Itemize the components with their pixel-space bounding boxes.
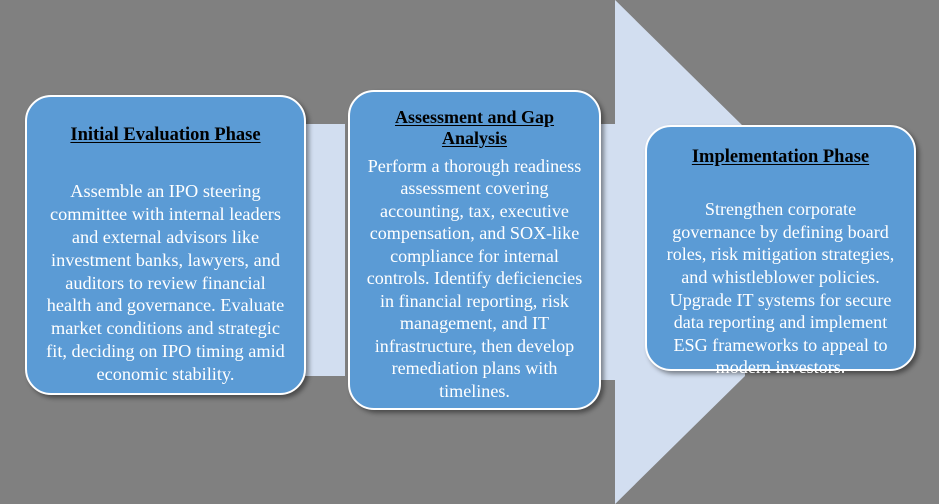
arrow-shaft-icon (601, 124, 641, 380)
phase-body: Assemble an IPO steering committee with … (41, 180, 290, 385)
phase-title: Implementation Phase (661, 147, 900, 168)
phase-card-initial-evaluation[interactable]: Initial Evaluation Phase Assemble an IPO… (25, 95, 306, 395)
diagram-canvas: Initial Evaluation Phase Assemble an IPO… (0, 0, 939, 504)
phase-body: Perform a thorough readiness assessment … (364, 155, 585, 403)
phase-card-implementation[interactable]: Implementation Phase Strengthen corporat… (645, 125, 916, 371)
phase-body: Strengthen corporate governance by defin… (661, 198, 900, 378)
phase-card-assessment-and-gap-analysis[interactable]: Assessment and Gap Analysis Perform a th… (348, 90, 601, 410)
phase-title: Initial Evaluation Phase (41, 125, 290, 146)
phase-title: Assessment and Gap Analysis (364, 107, 585, 149)
connector-band-icon (305, 124, 345, 376)
